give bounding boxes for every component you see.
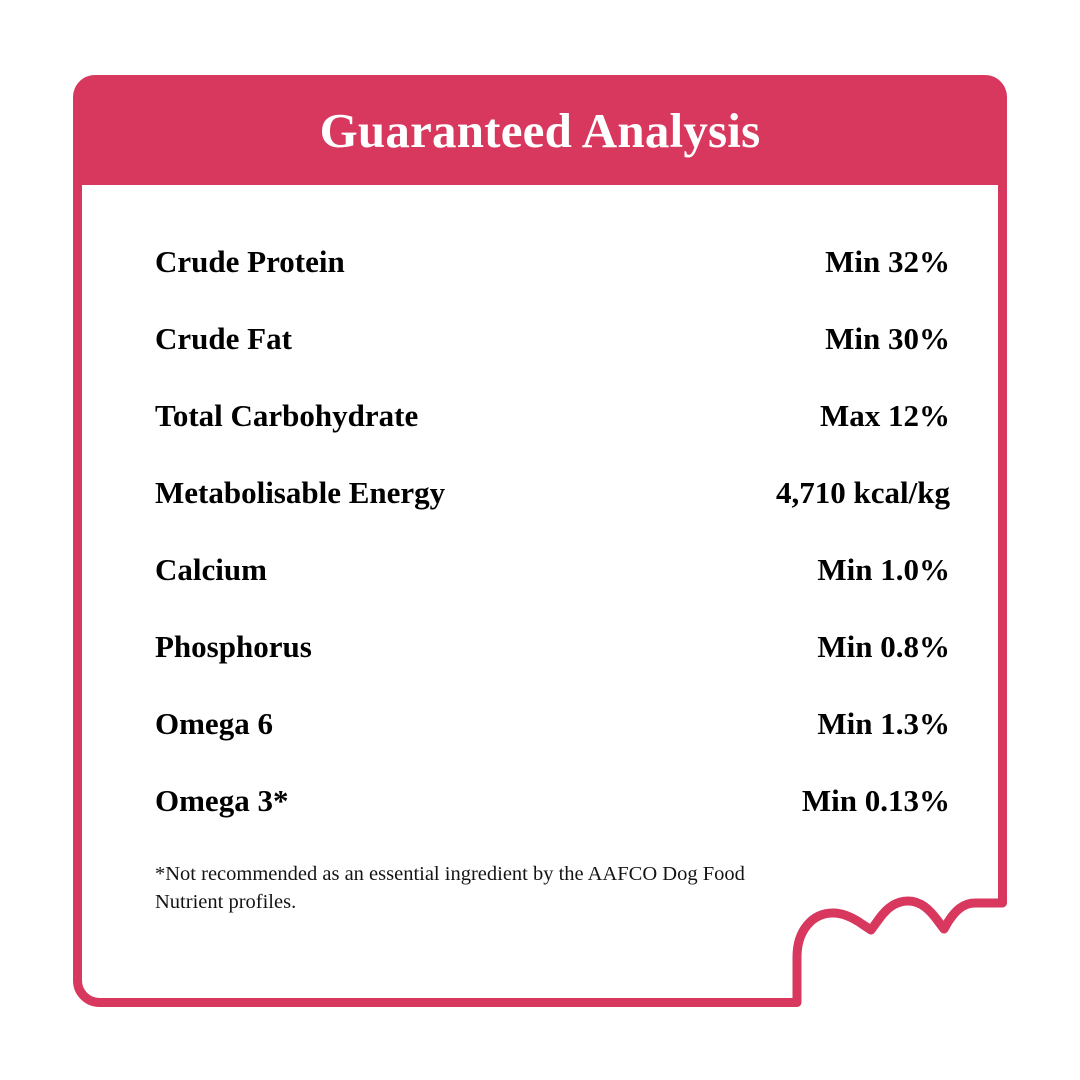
table-row: Crude Protein Min 32% (155, 223, 950, 300)
page-title: Guaranteed Analysis (320, 106, 761, 155)
nutrient-label: Total Carbohydrate (155, 377, 652, 454)
guaranteed-analysis-card: Guaranteed Analysis Crude Protein Min 32… (0, 0, 1080, 1080)
nutrient-value: 4,710 kcal/kg (652, 454, 950, 531)
card-header: Guaranteed Analysis (73, 75, 1007, 185)
table-row: Phosphorus Min 0.8% (155, 608, 950, 685)
nutrient-label: Omega 6 (155, 685, 652, 762)
nutrient-label: Metabolisable Energy (155, 454, 652, 531)
table-row: Calcium Min 1.0% (155, 531, 950, 608)
table-row: Metabolisable Energy 4,710 kcal/kg (155, 454, 950, 531)
nutrient-label: Phosphorus (155, 608, 652, 685)
card-body: Crude Protein Min 32% Crude Fat Min 30% … (82, 185, 998, 998)
nutrient-label: Omega 3* (155, 762, 652, 839)
nutrient-value: Min 0.8% (652, 608, 950, 685)
nutrient-value: Min 30% (652, 300, 950, 377)
footnote-text: *Not recommended as an essential ingredi… (155, 861, 780, 917)
table-row: Crude Fat Min 30% (155, 300, 950, 377)
nutrient-value: Min 0.13% (652, 762, 950, 839)
analysis-table-body: Crude Protein Min 32% Crude Fat Min 30% … (155, 223, 950, 839)
table-row: Omega 6 Min 1.3% (155, 685, 950, 762)
nutrient-value: Min 1.3% (652, 685, 950, 762)
nutrient-label: Crude Fat (155, 300, 652, 377)
table-row: Omega 3* Min 0.13% (155, 762, 950, 839)
nutrient-label: Crude Protein (155, 223, 652, 300)
nutrient-value: Min 32% (652, 223, 950, 300)
nutrient-label: Calcium (155, 531, 652, 608)
analysis-table: Crude Protein Min 32% Crude Fat Min 30% … (155, 223, 950, 839)
nutrient-value: Max 12% (652, 377, 950, 454)
nutrient-value: Min 1.0% (652, 531, 950, 608)
table-row: Total Carbohydrate Max 12% (155, 377, 950, 454)
